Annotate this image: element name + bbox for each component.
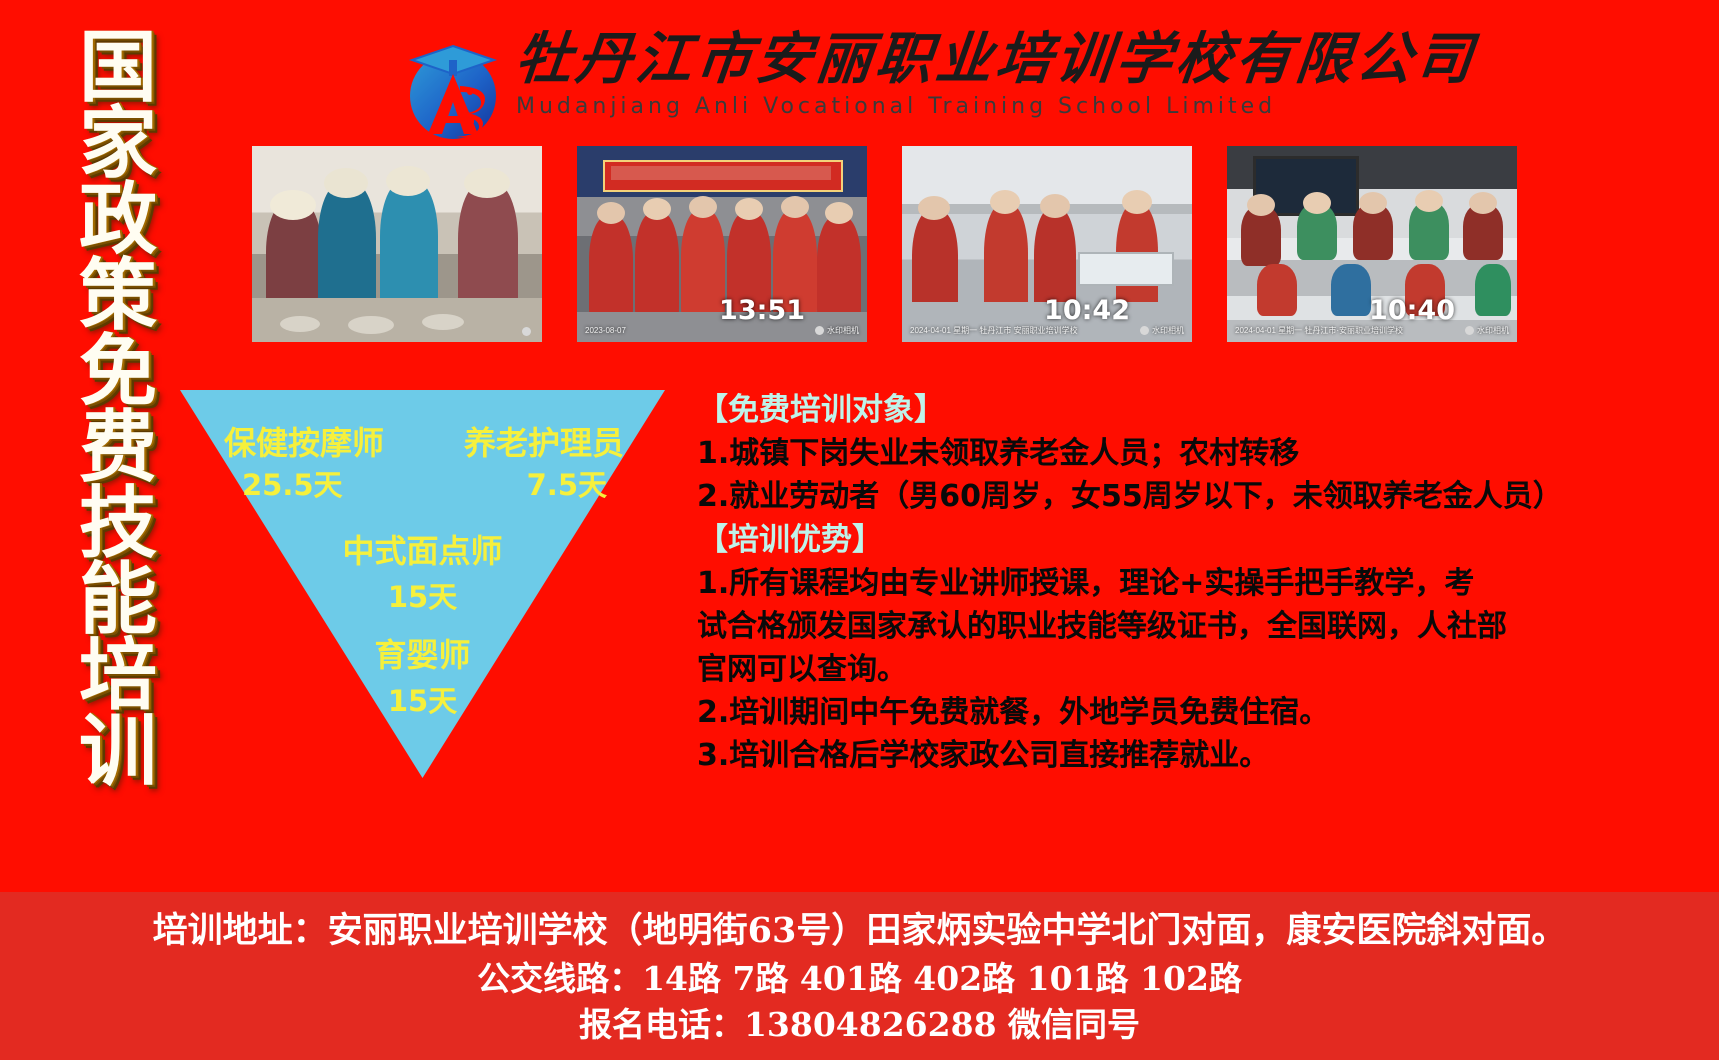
course-days-eldercare: 7.5天 bbox=[527, 462, 607, 504]
watermark-label: 水印相机 bbox=[827, 325, 859, 336]
photo-meta bbox=[260, 327, 534, 336]
vertical-title-char: 免 bbox=[79, 334, 157, 410]
course-triangle: 保健按摩师 养老护理员 25.5天 7.5天 中式面点师 15天 育婴师 15天 bbox=[180, 390, 665, 778]
vertical-title-char: 训 bbox=[79, 714, 157, 790]
photo-classroom-lecture: 10:40 2024-04-01 星期一 牡丹江市·安丽职业培训学校 水印相机 bbox=[1227, 146, 1517, 342]
watermark-badge: 水印相机 bbox=[1465, 325, 1509, 336]
watermark-label: 水印相机 bbox=[1152, 325, 1184, 336]
watermark-badge: 水印相机 bbox=[1140, 325, 1184, 336]
course-days-massage: 25.5天 bbox=[242, 462, 343, 504]
advantage-item: 官网可以查询。 bbox=[697, 648, 1697, 691]
header-title-block: 牡丹江市安丽职业培训学校有限公司 Mudanjiang Anli Vocatio… bbox=[516, 26, 1306, 122]
course-name-eldercare: 养老护理员 bbox=[464, 418, 624, 464]
vertical-title-char: 政 bbox=[79, 182, 157, 258]
advantage-item: 2.培训期间中午免费就餐，外地学员免费住宿。 bbox=[697, 691, 1697, 734]
footer-address: 培训地址：安丽职业培训学校（地明街63号）田家炳实验中学北门对面，康安医院斜对面… bbox=[153, 906, 1567, 956]
watermark-icon bbox=[1465, 326, 1474, 335]
advantage-item: 1.所有课程均由专业讲师授课，理论+实操手把手教学，考 bbox=[697, 562, 1697, 605]
vertical-title: 国 家 政 策 免 费 技 能 培 训 bbox=[62, 30, 174, 790]
heading-training-advantages: 【培训优势】 bbox=[697, 518, 1697, 562]
photo-meta: 2024-04-01 星期一 牡丹江市 安丽职业培训学校 水印相机 bbox=[910, 325, 1184, 336]
advantage-item: 3.培训合格后学校家政公司直接推荐就业。 bbox=[697, 734, 1697, 777]
vertical-title-char: 能 bbox=[79, 562, 157, 638]
info-column: 【免费培训对象】 1.城镇下岗失业未领取养老金人员；农村转移 2.就业劳动者（男… bbox=[697, 388, 1697, 777]
watermark-label: 水印相机 bbox=[1477, 325, 1509, 336]
course-name-pastry: 中式面点师 bbox=[180, 526, 665, 572]
vertical-title-char: 策 bbox=[79, 258, 157, 334]
school-name-en: Mudanjiang Anli Vocational Training Scho… bbox=[516, 92, 1306, 122]
course-name-massage: 保健按摩师 bbox=[224, 418, 384, 464]
footer-bus-routes: 公交线路：14路 7路 401路 402路 101路 102路 bbox=[477, 956, 1242, 1002]
photo-kitchen-pastry-class bbox=[252, 146, 542, 342]
vertical-title-char: 国 bbox=[79, 30, 157, 106]
photo-meta: 2024-04-01 星期一 牡丹江市·安丽职业培训学校 水印相机 bbox=[1235, 325, 1509, 336]
footer-phone[interactable]: 报名电话：13804826288 微信同号 bbox=[579, 1002, 1140, 1048]
advantage-item: 试合格颁发国家承认的职业技能等级证书，全国联网，人社部 bbox=[697, 605, 1697, 648]
watermark-icon bbox=[815, 326, 824, 335]
course-days-pastry: 15天 bbox=[180, 574, 665, 616]
poster-root: 国 家 政 策 免 费 技 能 培 训 bbox=[0, 0, 1719, 1060]
graduation-cap-emblem-icon bbox=[398, 30, 508, 142]
heading-free-training-targets: 【免费培训对象】 bbox=[697, 388, 1697, 432]
photo-nursing-practice: 10:42 2024-04-01 星期一 牡丹江市 安丽职业培训学校 水印相机 bbox=[902, 146, 1192, 342]
target-item: 2.就业劳动者（男60周岁，女55周岁以下，未领取养老金人员） bbox=[697, 475, 1697, 518]
photo-strip: 13:51 2023-08-07 水印相机 10:42 20 bbox=[252, 146, 1517, 346]
photo-date: 2023-08-07 bbox=[585, 326, 626, 335]
header: 牡丹江市安丽职业培训学校有限公司 Mudanjiang Anli Vocatio… bbox=[398, 22, 1298, 142]
photo-timestamp: 10:40 bbox=[1369, 295, 1455, 326]
vertical-title-char: 技 bbox=[79, 486, 157, 562]
watermark-badge: 水印相机 bbox=[815, 325, 859, 336]
triangle-text-layer: 保健按摩师 养老护理员 25.5天 7.5天 中式面点师 15天 育婴师 15天 bbox=[180, 390, 665, 778]
photo-timestamp: 13:51 bbox=[719, 295, 805, 326]
photo-meta: 2023-08-07 水印相机 bbox=[585, 325, 859, 336]
triangle-row-1-names: 保健按摩师 养老护理员 bbox=[224, 418, 624, 464]
school-name-cn: 牡丹江市安丽职业培训学校有限公司 bbox=[513, 26, 1310, 92]
photo-date: 2024-04-01 星期一 牡丹江市·安丽职业培训学校 bbox=[1235, 325, 1403, 336]
watermark-icon bbox=[1140, 326, 1149, 335]
vertical-title-char: 培 bbox=[79, 638, 157, 714]
footer-contact-band: 培训地址：安丽职业培训学校（地明街63号）田家炳实验中学北门对面，康安医院斜对面… bbox=[0, 892, 1719, 1060]
course-name-infantcare: 育婴师 bbox=[180, 630, 665, 676]
photo-group-banner-class: 13:51 2023-08-07 水印相机 bbox=[577, 146, 867, 342]
watermark-icon bbox=[522, 327, 531, 336]
photo-timestamp: 10:42 bbox=[1044, 295, 1130, 326]
course-days-infantcare: 15天 bbox=[180, 678, 665, 720]
watermark-badge bbox=[522, 327, 534, 336]
vertical-title-char: 费 bbox=[79, 410, 157, 486]
vertical-title-char: 家 bbox=[79, 106, 157, 182]
target-item: 1.城镇下岗失业未领取养老金人员；农村转移 bbox=[697, 432, 1697, 475]
photo-date: 2024-04-01 星期一 牡丹江市 安丽职业培训学校 bbox=[910, 325, 1078, 336]
triangle-row-1-days: 25.5天 7.5天 bbox=[242, 462, 607, 504]
